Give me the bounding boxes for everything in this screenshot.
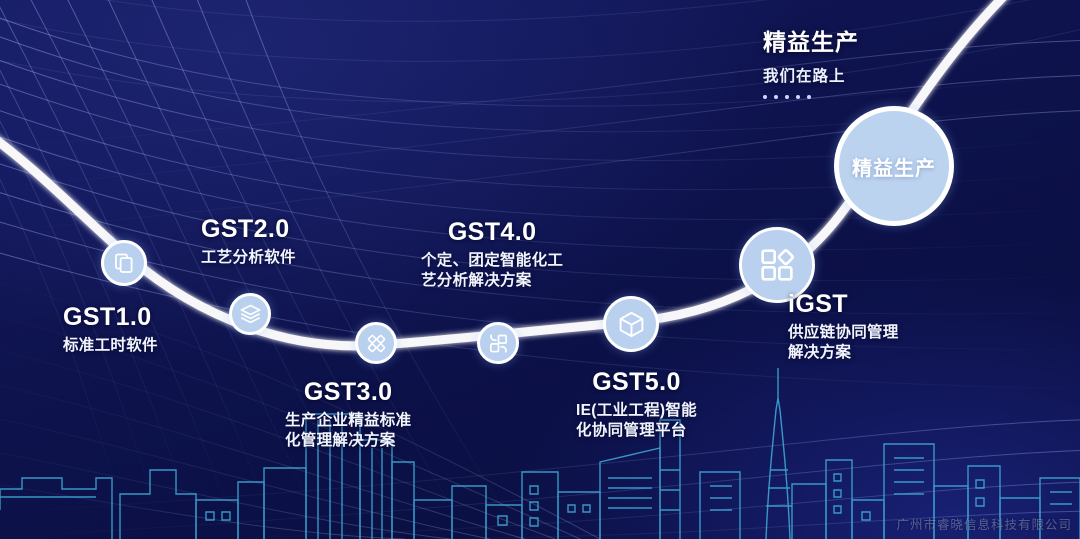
lean-production-roadmap-banner: 精益生产 我们在路上 精益生产 <box>0 0 1080 539</box>
node-lean-production-label: 精益生产 <box>852 152 936 181</box>
label-gst3-subtitle: 生产企业精益标准 化管理解决方案 <box>285 411 411 451</box>
node-gst5[interactable] <box>603 296 659 352</box>
label-gst3-title: GST3.0 <box>285 378 411 406</box>
node-gst2[interactable] <box>229 293 271 335</box>
diamond-grid-icon <box>365 332 388 355</box>
watermark-text: 广州市睿晓信息科技有限公司 <box>896 514 1072 533</box>
label-igst-title: iGST <box>788 290 899 318</box>
label-gst1-title: GST1.0 <box>63 303 158 331</box>
node-gst4[interactable] <box>477 322 519 364</box>
label-gst4-title: GST4.0 <box>421 218 563 246</box>
square-grid-icon <box>757 245 797 285</box>
hero-subtitle: 我们在路上 <box>763 64 859 86</box>
label-gst4: GST4.0 个定、团定智能化工 艺分析解决方案 <box>421 218 563 291</box>
node-lean-production[interactable]: 精益生产 <box>834 106 954 226</box>
sync-squares-icon <box>487 332 510 355</box>
label-gst1-subtitle: 标准工时软件 <box>63 336 158 356</box>
node-gst1[interactable] <box>101 240 147 286</box>
label-gst1: GST1.0 标准工时软件 <box>63 303 158 356</box>
label-gst5-subtitle: IE(工业工程)智能 化协同管理平台 <box>576 401 697 441</box>
label-igst: iGST 供应链协同管理 解决方案 <box>788 290 899 363</box>
hero-title: 精益生产 <box>763 30 859 55</box>
label-gst5-title: GST5.0 <box>576 368 697 396</box>
documents-icon <box>112 251 136 275</box>
node-gst3[interactable] <box>355 322 397 364</box>
label-igst-subtitle: 供应链协同管理 解决方案 <box>788 323 899 363</box>
label-gst4-subtitle: 个定、团定智能化工 艺分析解决方案 <box>421 251 563 291</box>
hero-ellipsis-dots <box>763 95 859 99</box>
label-gst3: GST3.0 生产企业精益标准 化管理解决方案 <box>285 378 411 451</box>
label-gst2-title: GST2.0 <box>201 215 296 243</box>
label-gst2: GST2.0 工艺分析软件 <box>201 215 296 268</box>
layers-icon <box>239 303 262 326</box>
cube-icon <box>617 310 646 339</box>
label-gst2-subtitle: 工艺分析软件 <box>201 248 296 268</box>
label-gst5: GST5.0 IE(工业工程)智能 化协同管理平台 <box>576 368 697 441</box>
hero-copy: 精益生产 我们在路上 <box>763 30 859 99</box>
